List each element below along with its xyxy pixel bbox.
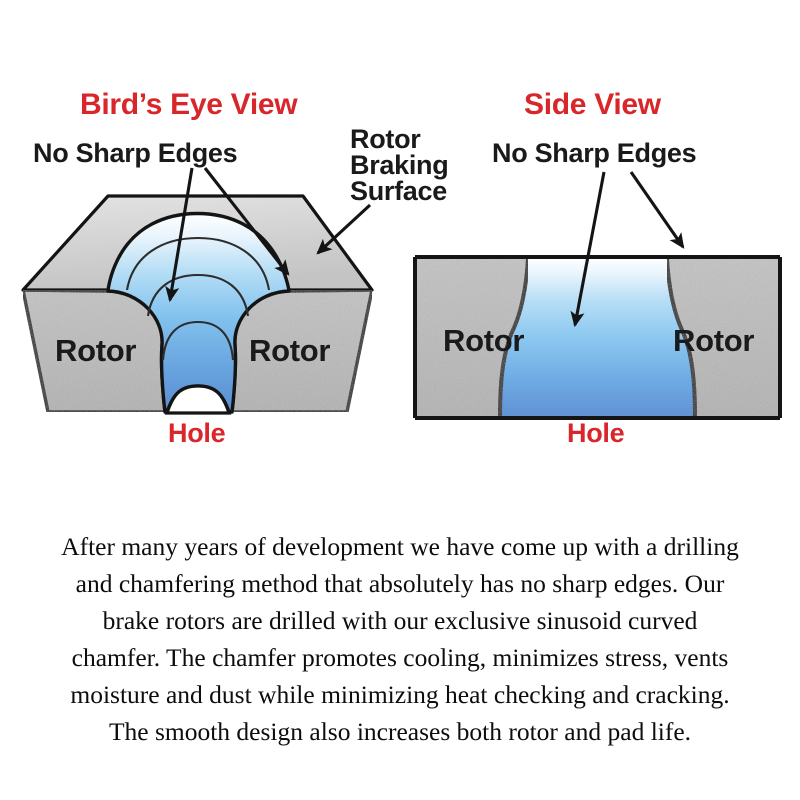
- paragraph-line: and chamfering method that absolutely ha…: [10, 565, 790, 602]
- label-rotor-sideview-left: Rotor: [443, 323, 524, 359]
- label-rotor-braking-surface: Rotor Braking Surface: [350, 126, 448, 204]
- paragraph-line: After many years of development we have …: [10, 528, 790, 565]
- birds-eye-block: [23, 196, 372, 413]
- description-paragraph: After many years of development we have …: [10, 528, 790, 750]
- side-view-title: Side View: [524, 88, 661, 122]
- arrow-no-sharp-edges-right-outer: [631, 172, 683, 247]
- label-hole-birdseye: Hole: [168, 418, 225, 449]
- label-rotor-sideview-right: Rotor: [673, 323, 754, 359]
- label-rotor-birdseye-left: Rotor: [55, 333, 136, 369]
- label-no-sharp-edges-left: No Sharp Edges: [33, 138, 237, 169]
- label-no-sharp-edges-right: No Sharp Edges: [492, 138, 696, 169]
- paragraph-line: The smooth design also increases both ro…: [10, 713, 790, 750]
- illustration-stage: Bird’s Eye View Side View No Sharp Edges…: [0, 0, 800, 800]
- label-rotor-birdseye-right: Rotor: [249, 333, 330, 369]
- birds-eye-view-title: Bird’s Eye View: [80, 88, 297, 122]
- label-rotor-braking-surface-line-1: Rotor: [350, 126, 448, 152]
- label-rotor-braking-surface-line-3: Surface: [350, 178, 448, 204]
- paragraph-line: brake rotors are drilled with our exclus…: [10, 602, 790, 639]
- paragraph-line: moisture and dust while minimizing heat …: [10, 676, 790, 713]
- label-rotor-braking-surface-line-2: Braking: [350, 152, 448, 178]
- paragraph-line: chamfer. The chamfer promotes cooling, m…: [10, 639, 790, 676]
- label-hole-sideview: Hole: [567, 418, 624, 449]
